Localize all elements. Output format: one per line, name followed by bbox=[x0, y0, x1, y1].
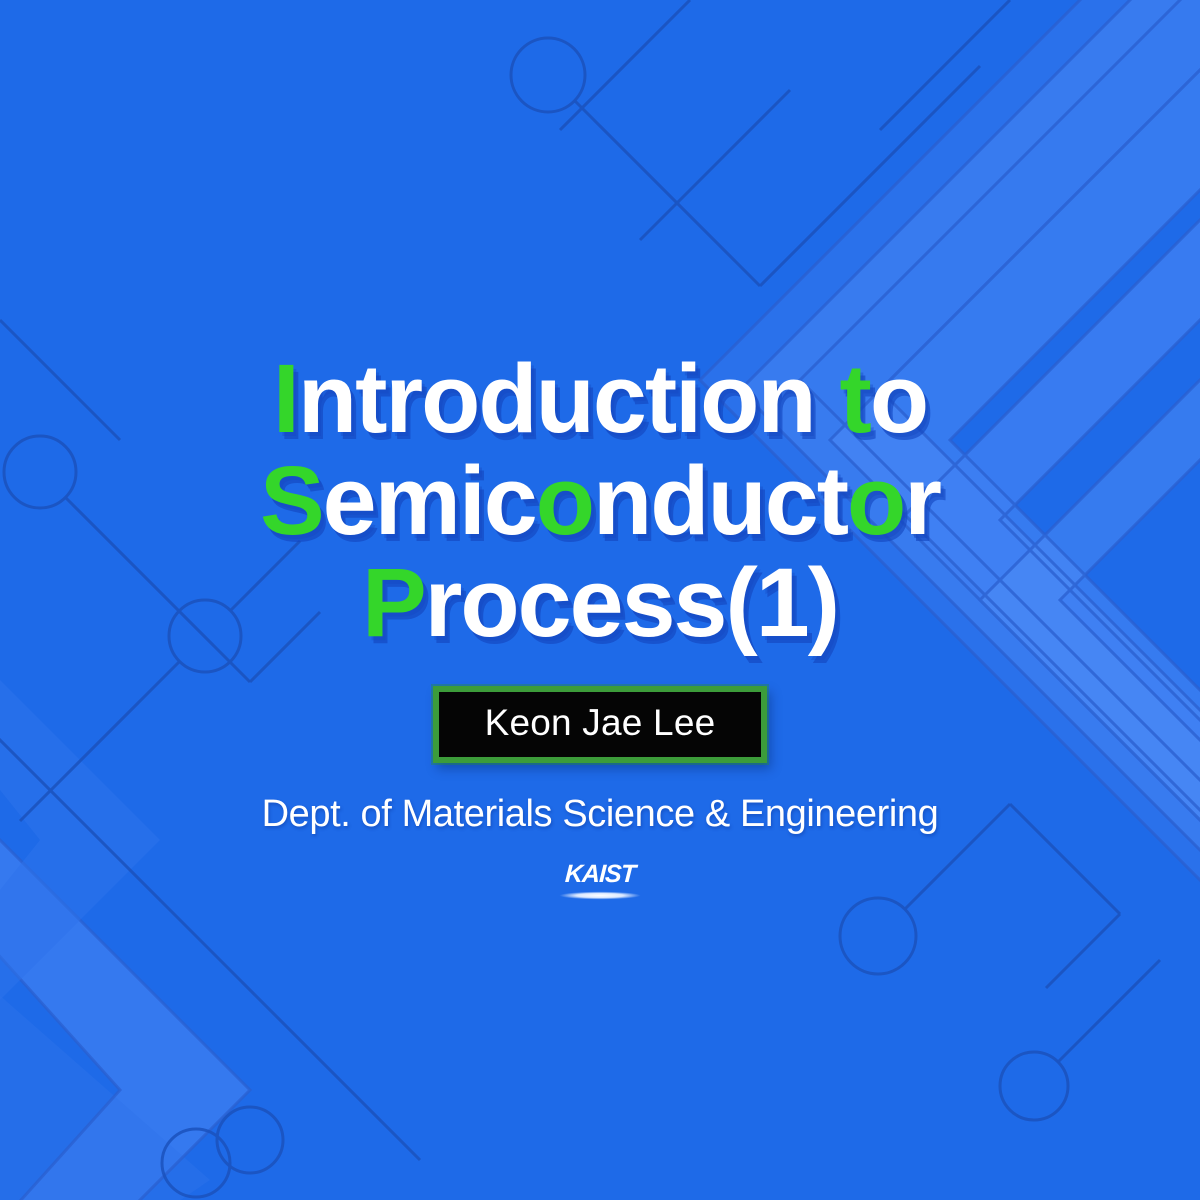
title-char-green: t bbox=[840, 344, 870, 453]
title-char-green: P bbox=[362, 548, 425, 657]
department-subtitle: Dept. of Materials Science & Engineering bbox=[262, 793, 939, 836]
slide-content: Introduction to Semiconductor Process(1)… bbox=[0, 0, 1200, 1200]
title-char-white: r bbox=[904, 446, 940, 555]
title-char-green: S bbox=[260, 446, 323, 555]
title-char-white: o bbox=[870, 344, 927, 453]
title-char-white: emic bbox=[323, 446, 536, 555]
title-char-green: o bbox=[847, 446, 904, 555]
title-char-white: nduct bbox=[593, 446, 847, 555]
title-slide: Introduction to Semiconductor Process(1)… bbox=[0, 0, 1200, 1200]
title-char-green: I bbox=[273, 344, 298, 453]
title-line-1: Introduction to bbox=[260, 352, 940, 446]
kaist-swoosh-icon bbox=[548, 891, 652, 900]
presenter-badge-wrapper: Keon Jae Lee bbox=[433, 686, 768, 763]
kaist-logo: KAIST bbox=[548, 862, 652, 900]
title-line-2: Semiconductor bbox=[260, 454, 940, 548]
title-char-white: rocess(1) bbox=[425, 548, 838, 657]
title-line-3: Process(1) bbox=[260, 556, 940, 650]
title-char-green: o bbox=[536, 446, 593, 555]
presenter-name-badge: Keon Jae Lee bbox=[433, 686, 768, 763]
kaist-wordmark: KAIST bbox=[564, 862, 635, 887]
title-block: Introduction to Semiconductor Process(1) bbox=[260, 352, 940, 652]
title-char-white: ntroduction bbox=[298, 344, 840, 453]
